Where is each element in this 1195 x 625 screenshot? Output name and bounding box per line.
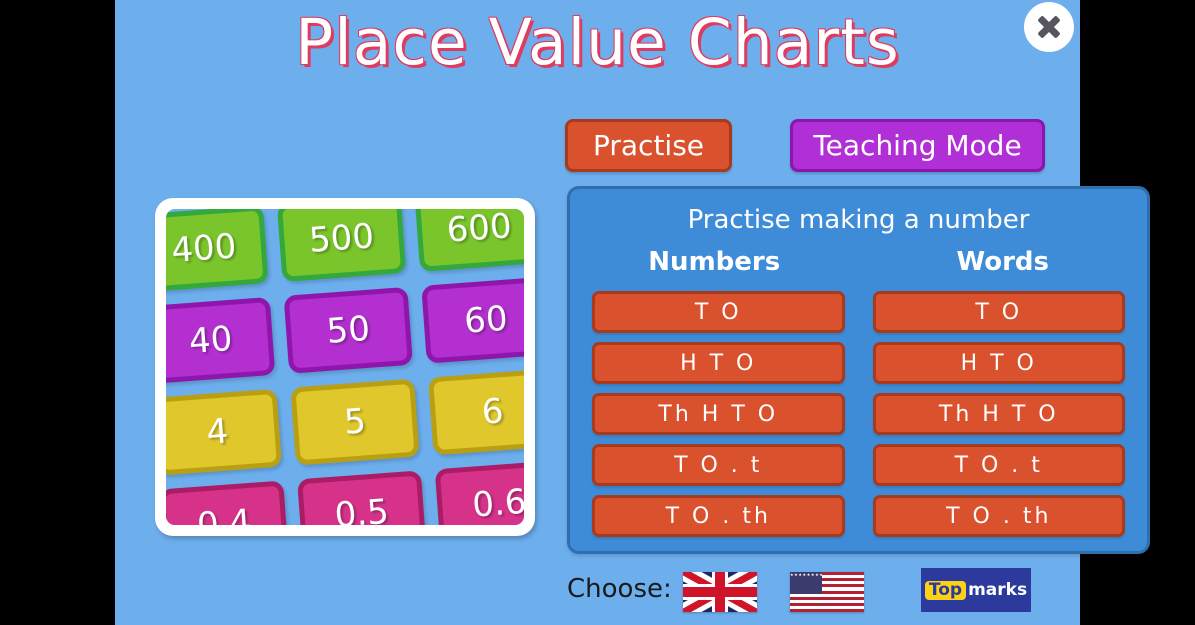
us-stripe [790,597,864,600]
words-option-hto[interactable]: H T O [873,342,1126,384]
tile: 5 [290,379,419,466]
app-window: Place Value Charts Practise Teaching Mod… [115,0,1080,625]
numbers-option-to-th[interactable]: T O . th [592,495,845,537]
us-stripe [790,603,864,606]
us-stripe [790,609,864,612]
numbers-option-thhto[interactable]: Th H T O [592,393,845,435]
words-option-to-t[interactable]: T O . t [873,444,1126,486]
words-option-column: T O H T O Th H T O T O . t T O . th [873,291,1126,537]
topmarks-logo-marks: marks [968,582,1027,599]
us-flag-icon[interactable]: ★★★★★★★★★★★★★★★★★★★★★★★★★★★★★★★★★★★★★★★★ [790,572,864,612]
preview-clip: 400 500 600 40 50 60 4 5 6 [166,209,524,525]
tile: 40 [166,297,275,384]
words-option-thhto[interactable]: Th H T O [873,393,1126,435]
column-header-words: Words [859,247,1148,277]
tile: 500 [277,209,406,282]
practise-mode-label: Practise [593,129,704,162]
tile: 0.4 [166,480,289,525]
numbers-option-to-t[interactable]: T O . t [592,444,845,486]
words-option-to[interactable]: T O [873,291,1126,333]
numbers-option-hto[interactable]: H T O [592,342,845,384]
choose-label: Choose: [567,574,672,604]
tile: 0.5 [297,470,426,525]
topmarks-logo[interactable]: Top marks [921,568,1031,612]
uk-flag-icon[interactable] [683,572,757,612]
panel-title: Practise making a number [570,205,1147,235]
numbers-option-to[interactable]: T O [592,291,845,333]
practise-panel: Practise making a number Numbers Words T… [567,186,1150,554]
numbers-option-column: T O H T O Th H T O T O . t T O . th [592,291,845,537]
tile-row: 40 50 60 [166,275,524,386]
us-canton: ★★★★★★★★★★★★★★★★★★★★★★★★★★★★★★★★★★★★★★★★ [790,572,822,594]
tile: 50 [284,287,413,374]
screen: Place Value Charts Practise Teaching Mod… [0,0,1195,625]
tile: 0.6 [435,460,524,525]
tile: 60 [421,277,524,364]
column-headers: Numbers Words [570,247,1147,277]
tile: 400 [166,209,269,292]
page-title: Place Value Charts [115,6,1080,79]
footer: Choose: ★★★★★★★★★★★★★★★★★★★★★★★★★★ [115,568,1080,618]
words-option-to-th[interactable]: T O . th [873,495,1126,537]
practise-mode-button[interactable]: Practise [565,119,732,172]
tile: 4 [166,389,282,476]
teaching-mode-label: Teaching Mode [813,129,1021,162]
column-header-numbers: Numbers [570,247,859,277]
tile-row: 4 5 6 [166,367,524,478]
preview-tile-grid: 400 500 600 40 50 60 4 5 6 [166,209,524,525]
close-icon [1036,14,1062,40]
uk-cross-red [715,572,725,612]
option-grid: T O H T O Th H T O T O . t T O . th T O … [570,291,1147,537]
tile: 600 [414,209,524,272]
teaching-mode-button[interactable]: Teaching Mode [790,119,1045,172]
close-button[interactable] [1024,2,1074,52]
tile: 6 [428,368,524,455]
topmarks-logo-top: Top [925,581,966,600]
place-value-preview[interactable]: 400 500 600 40 50 60 4 5 6 [155,198,535,536]
